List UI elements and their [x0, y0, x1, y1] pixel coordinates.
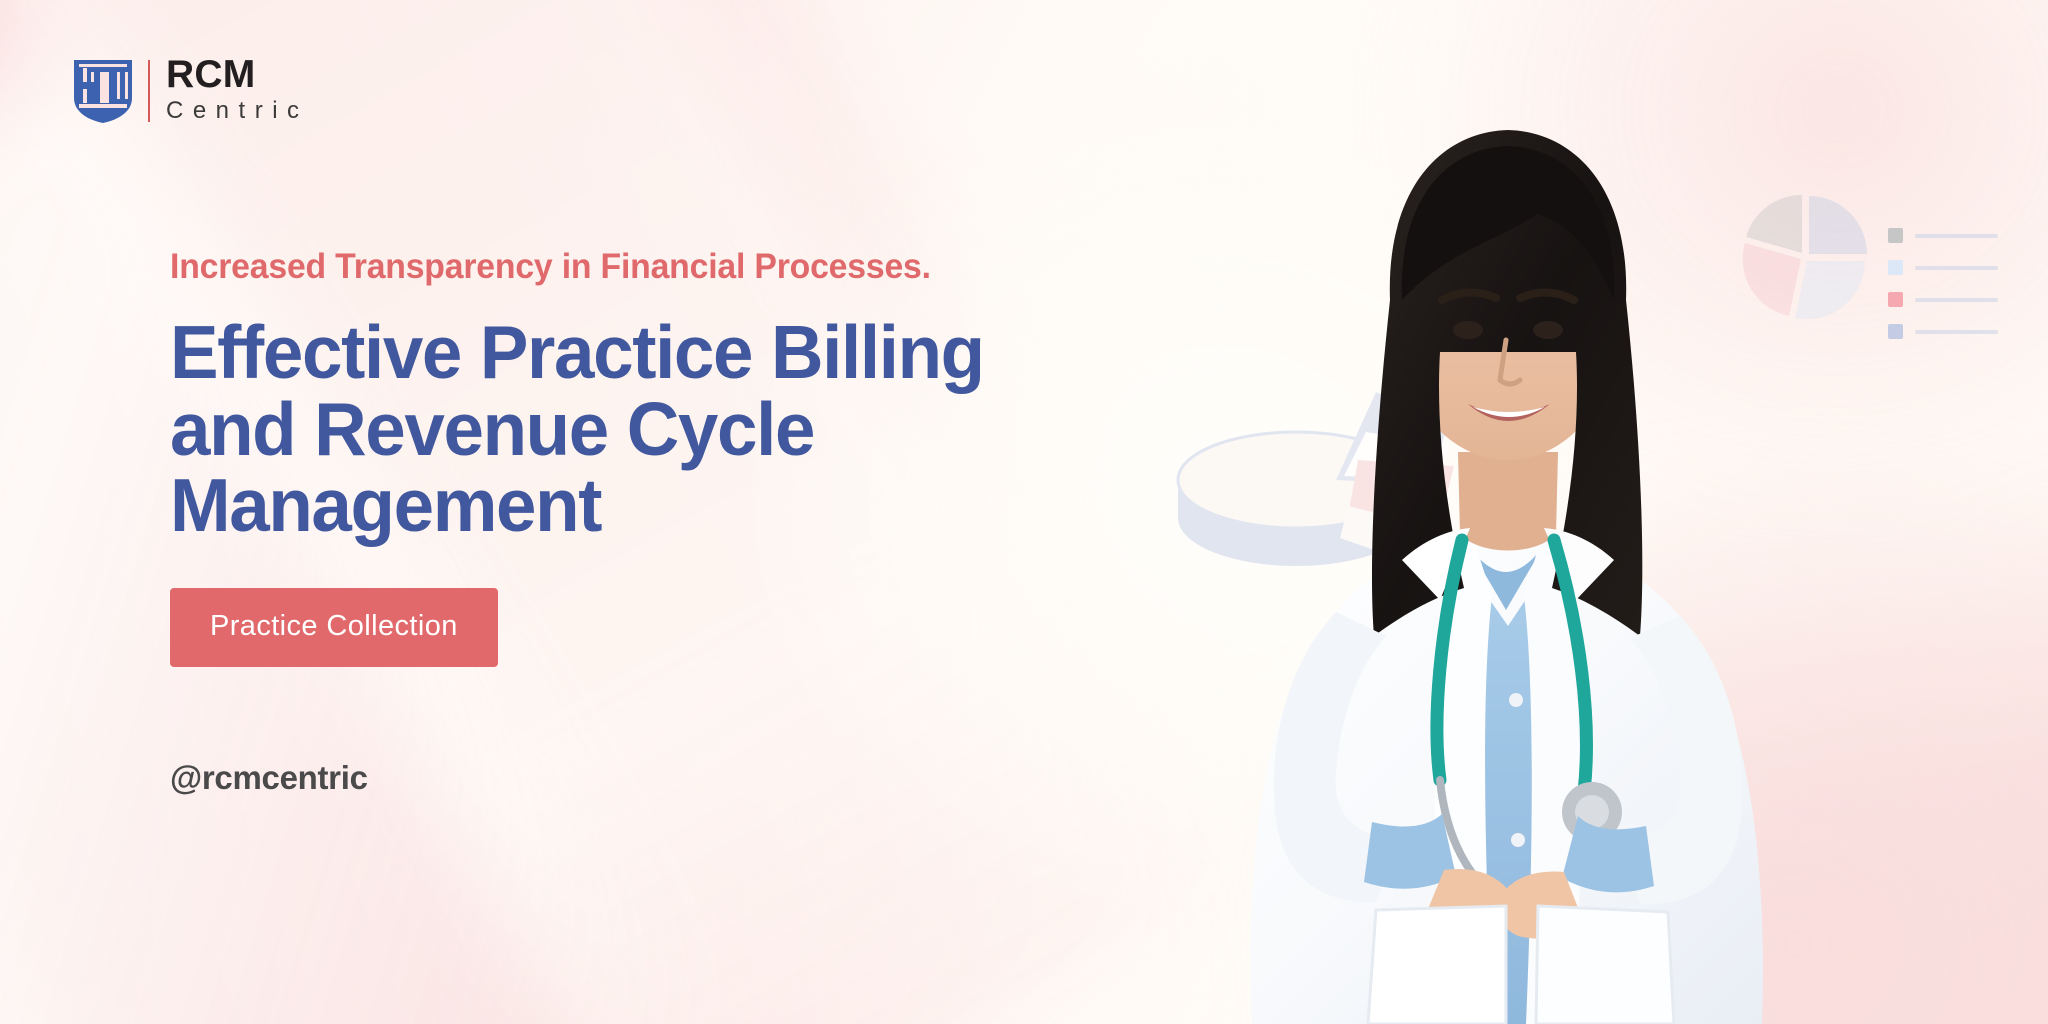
- headline-line-1: Effective Practice Billing: [170, 314, 1140, 391]
- legend-swatch: [1888, 260, 1903, 275]
- legend-item: [1888, 260, 1998, 275]
- legend-swatch: [1888, 292, 1903, 307]
- legend-placeholder-line: [1915, 266, 1998, 270]
- brand-logo[interactable]: RCM Centric: [72, 56, 309, 126]
- legend-placeholder-line: [1915, 234, 1998, 238]
- logo-subtitle: Centric: [166, 96, 309, 125]
- logo-wordmark: RCM: [166, 56, 309, 94]
- legend-item: [1888, 324, 1998, 339]
- legend-swatch: [1888, 228, 1903, 243]
- headline-line-3: Management: [170, 467, 1140, 544]
- marketing-banner: RCM Centric Increased Transparency in Fi…: [0, 0, 2048, 1024]
- legend-placeholder-line: [1915, 298, 1998, 302]
- legend-item: [1888, 228, 1998, 243]
- practice-collection-button[interactable]: Practice Collection: [170, 588, 498, 667]
- pie-chart-legend: [1888, 228, 1998, 356]
- page-title: Effective Practice Billing and Revenue C…: [170, 314, 1140, 544]
- hero-eyebrow: Increased Transparency in Financial Proc…: [170, 246, 1135, 288]
- hero-copy: Increased Transparency in Financial Proc…: [170, 246, 1170, 797]
- logo-divider: [148, 60, 150, 122]
- legend-item: [1888, 292, 1998, 307]
- headline-line-2: and Revenue Cycle: [170, 391, 1140, 468]
- legend-placeholder-line: [1915, 330, 1998, 334]
- doctor-photo: [1140, 0, 1840, 1024]
- rcm-monogram-icon: [72, 58, 134, 124]
- pie-chart-decoration: [1735, 192, 1875, 322]
- legend-swatch: [1888, 324, 1903, 339]
- social-handle: @rcmcentric: [170, 759, 1170, 797]
